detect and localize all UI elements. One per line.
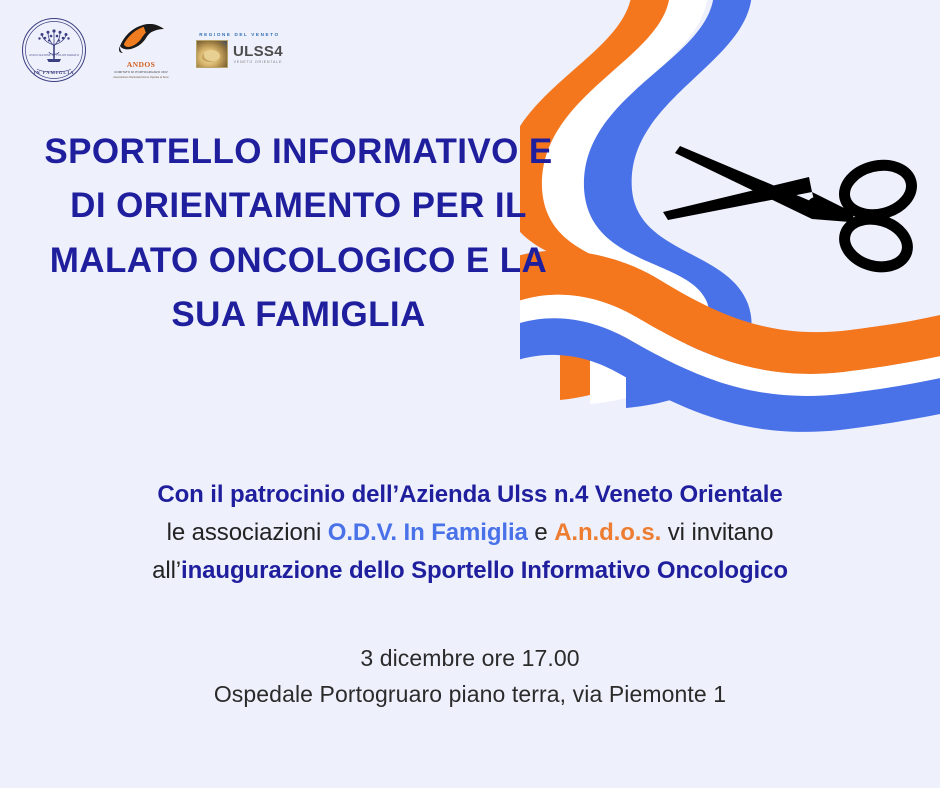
andos-subtitle2: Associazione Nazionale Donne Operate al … (110, 76, 172, 80)
ribbon-scissors-artwork (520, 0, 940, 470)
association-odv: O.D.V. In Famiglia (328, 519, 528, 546)
headline: SPORTELLO INFORMATIVO E DI ORIENTAMENTO … (26, 125, 571, 342)
in-famiglia-seal-top-text: ASSOCIAZIONE DI VOLONTARIATO (22, 54, 86, 58)
logo-ulss4: REGIONE DEL VENETO ULSS4 VENETO ORIENTAL… (196, 32, 283, 68)
andos-title: ANDOS (110, 60, 172, 69)
in-famiglia-seal-bottom-text: IN FAMIGLIA (22, 70, 86, 76)
scissors-icon (663, 146, 917, 274)
logo-strip: ASSOCIAZIONE DI VOLONTARIATO IN FAMIGLIA… (22, 18, 283, 82)
patronage-line: Con il patrocinio dell’Azienda Ulss n.4 … (0, 478, 940, 512)
associations-conjunction: e (528, 519, 554, 546)
andos-bird-icon (110, 20, 172, 54)
logo-in-famiglia: ASSOCIAZIONE DI VOLONTARIATO IN FAMIGLIA (22, 18, 86, 82)
ribbon-icon (520, 0, 940, 432)
veneto-lion-crest-icon (196, 40, 228, 68)
ulss4-title: ULSS4 (233, 44, 283, 59)
poster: ASSOCIAZIONE DI VOLONTARIATO IN FAMIGLIA… (0, 0, 940, 788)
associations-line: le associazioni O.D.V. In Famiglia e A.n… (0, 516, 940, 550)
invitation-line: all’inaugurazione dello Sportello Inform… (0, 554, 940, 588)
headline-line-2: DI ORIENTAMENTO PER IL (26, 179, 571, 233)
invitation-prefix: all’ (152, 557, 181, 584)
headline-line-4: SUA FAMIGLIA (26, 288, 571, 342)
associations-suffix: vi invitano (661, 519, 773, 546)
body-copy: Con il patrocinio dell’Azienda Ulss n.4 … (0, 478, 940, 588)
headline-line-3: MALATO ONCOLOGICO E LA (26, 234, 571, 288)
event-datetime: 3 dicembre ore 17.00 (0, 640, 940, 676)
headline-line-1: SPORTELLO INFORMATIVO E (26, 125, 571, 179)
ulss4-region-label: REGIONE DEL VENETO (199, 32, 279, 37)
associations-prefix: le associazioni (167, 519, 328, 546)
ulss4-subtitle: VENETO ORIENTALE (233, 60, 283, 64)
invitation-emphasis: inaugurazione dello Sportello Informativ… (181, 557, 788, 584)
ribbon-blue-lower (520, 318, 940, 432)
logo-andos: ANDOS COMITATO DI PORTOGRUARO ODV Associ… (110, 20, 172, 79)
andos-subtitle: COMITATO DI PORTOGRUARO ODV (110, 70, 172, 74)
ribbon-white-lower (520, 295, 940, 396)
event-details: 3 dicembre ore 17.00 Ospedale Portogruar… (0, 640, 940, 713)
ribbon-blue-upper (584, 0, 752, 408)
association-andos: A.n.d.o.s. (554, 519, 661, 546)
event-location: Ospedale Portogruaro piano terra, via Pi… (0, 676, 940, 712)
ribbon-orange-lower (520, 251, 940, 374)
